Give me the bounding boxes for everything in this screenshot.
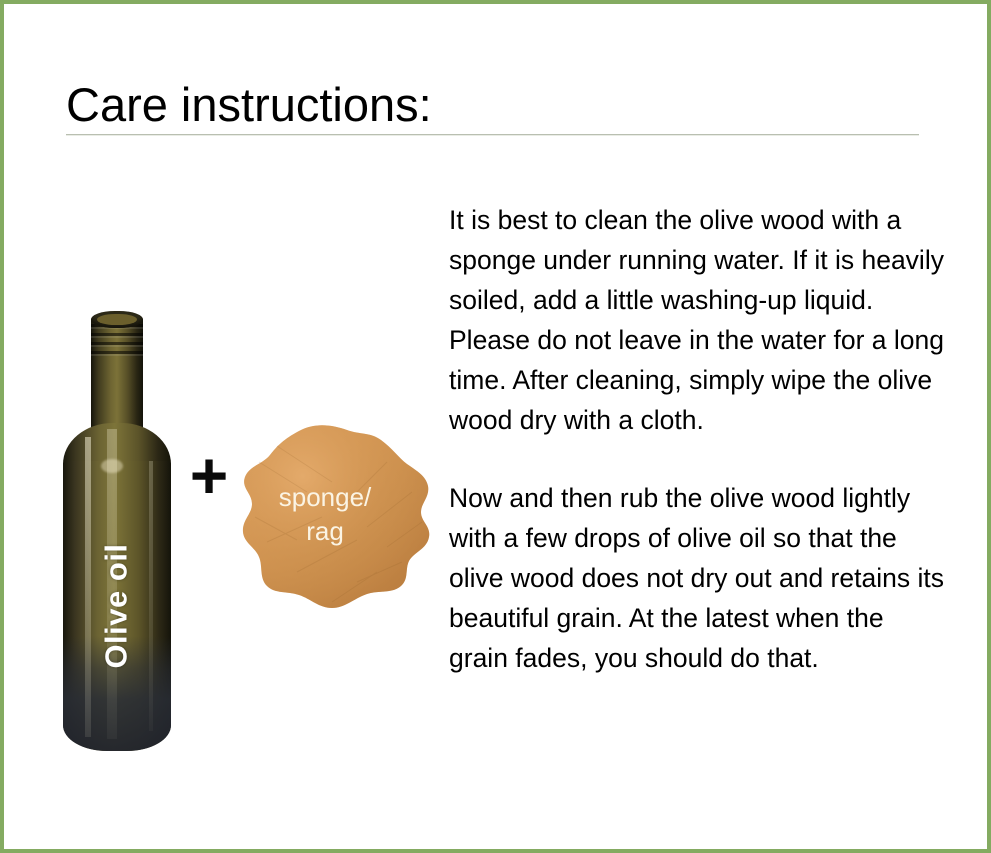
bottle-label-text: Olive oil xyxy=(99,543,135,668)
bottle-mouth-opening xyxy=(97,314,137,325)
care-instructions-text: It is best to clean the olive wood with … xyxy=(449,200,949,678)
instructions-paragraph-2: Now and then rub the olive wood lightly … xyxy=(449,478,949,678)
sponge-label-line1: sponge/ xyxy=(237,480,413,514)
ingredients-illustration: Olive oil + xyxy=(4,4,444,853)
instructions-paragraph-1: It is best to clean the olive wood with … xyxy=(449,200,949,440)
sponge-label-line2: rag xyxy=(237,514,413,548)
bottle-label: Olive oil xyxy=(63,461,171,751)
sponge-rag-image: sponge/ rag xyxy=(237,422,440,616)
slide-canvas: Care instructions: Olive oil + xyxy=(0,0,991,853)
plus-icon: + xyxy=(181,447,237,505)
sponge-label: sponge/ rag xyxy=(237,480,413,548)
olive-oil-bottle-image: Olive oil xyxy=(61,311,173,756)
